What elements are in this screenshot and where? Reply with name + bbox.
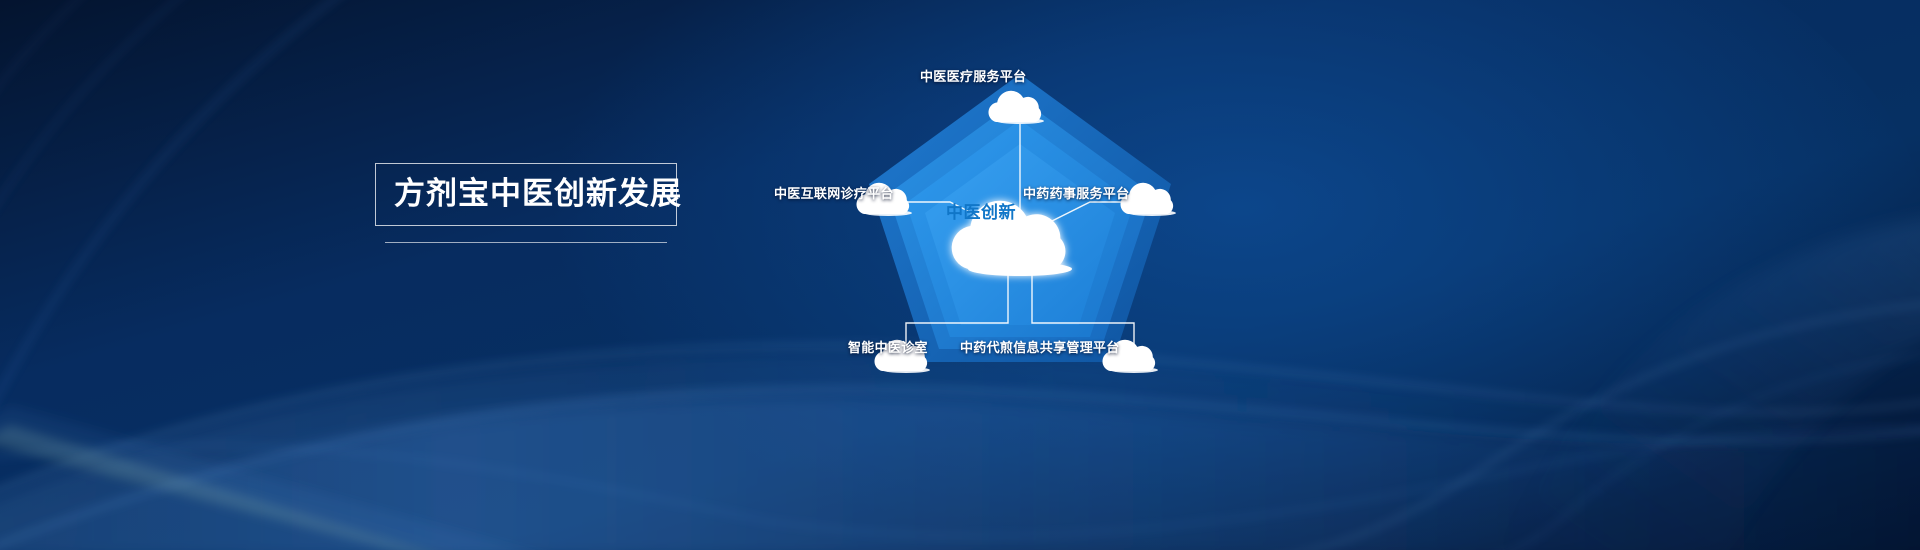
node-label-right: 中药药事服务平台 — [1023, 183, 1129, 202]
node-label-bottom-right: 中药代煎信息共享管理平台 — [960, 337, 1120, 356]
center-node-label: 中医创新 — [931, 198, 1031, 223]
title-box: 方剂宝中医创新发展 — [375, 163, 677, 226]
node-label-bottom-left: 智能中医诊室 — [848, 337, 928, 356]
pentagon-graphic — [760, 28, 1280, 448]
node-label-top: 中医医疗服务平台 — [920, 66, 1026, 85]
banner: 方剂宝中医创新发展 — [0, 0, 1920, 550]
title-underline-rule — [385, 242, 667, 243]
node-label-left: 中医互联网诊疗平台 — [774, 183, 894, 202]
pentagon-diagram: 中医创新 中医医疗服务平台 中医互联网诊疗平台 中药药事服务平台 智能中医诊室 … — [760, 28, 1280, 448]
page-title: 方剂宝中医创新发展 — [394, 178, 658, 209]
title-block: 方剂宝中医创新发展 — [375, 163, 677, 243]
